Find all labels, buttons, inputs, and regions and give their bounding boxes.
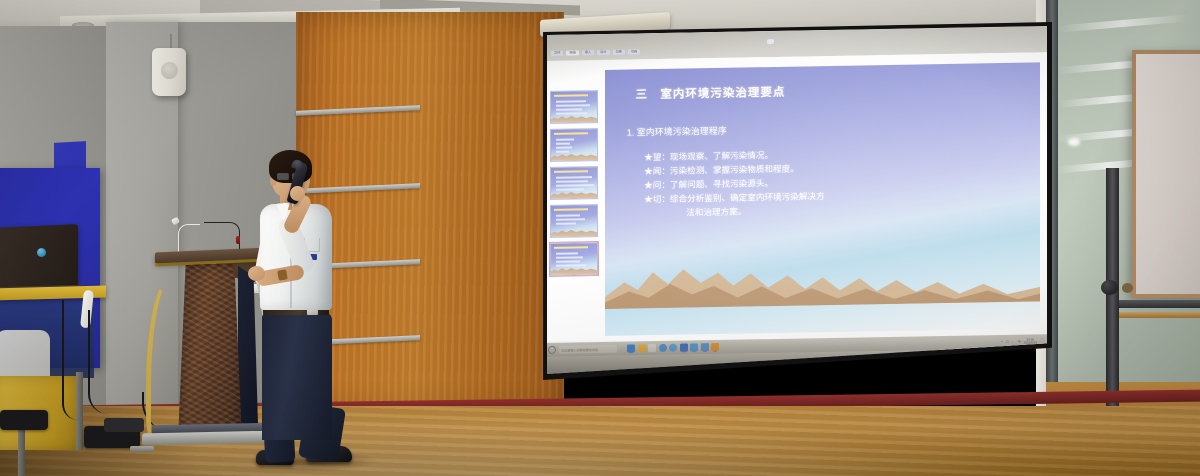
thumbnail-text-line [556, 138, 574, 140]
file-explorer-icon[interactable] [638, 344, 646, 352]
slide-thumbnail[interactable] [550, 166, 598, 200]
projected-desktop: 文件 开始 插入 设计 切换 动画 [545, 26, 1047, 357]
ime-icon[interactable]: 中 [1018, 340, 1021, 344]
thumbnail-title-bar [554, 132, 588, 135]
gooseneck-mic-arm-dark [204, 222, 240, 250]
current-slide[interactable]: 三 室内环境污染治理要点 1. 室内环境污染治理程序 ★望：现场观察、了解污染情… [605, 62, 1040, 336]
ribbon-tab-file[interactable]: 文件 [551, 51, 563, 56]
thumbnail-title-bar [554, 208, 588, 211]
window-control-group[interactable] [767, 39, 774, 44]
whiteboard-adjust-knob[interactable] [1101, 280, 1118, 295]
microphone-indicator-light [236, 236, 240, 244]
lecture-hall-scene: 文件 开始 插入 设计 切换 动画 [0, 0, 1200, 476]
mail-icon[interactable] [659, 344, 667, 352]
slide-thumbnail[interactable] [550, 90, 598, 124]
laptop-lid[interactable] [0, 224, 78, 292]
thumbnail-text-line [556, 176, 592, 178]
glass-light-spot [1068, 138, 1080, 146]
slide-title: 三 室内环境污染治理要点 [635, 84, 785, 103]
thumbnail-mountain-graphic [551, 227, 597, 237]
thumbnail-text-line [556, 180, 588, 182]
cable [88, 310, 108, 414]
laptop-brand-logo-icon [37, 248, 46, 257]
whiteboard-pen-tray [1118, 312, 1200, 318]
thumbnail-text-line [556, 256, 583, 258]
store-icon[interactable] [648, 344, 656, 352]
wall-speaker [152, 48, 186, 96]
wps-icon[interactable] [701, 343, 709, 351]
thumbnail-text-line [556, 143, 570, 145]
chevron-up-icon[interactable]: ^ [1002, 340, 1003, 344]
thumbnail-text-line [556, 252, 578, 254]
ribbon-tab-design[interactable]: 设计 [597, 50, 609, 55]
whiteboard-frame-knob[interactable] [1122, 283, 1133, 293]
powerpoint-icon[interactable] [711, 343, 719, 351]
metal-clamp [130, 446, 154, 452]
projector-screen[interactable]: 文件 开始 插入 设计 切换 动画 [545, 26, 1047, 374]
cable [62, 300, 78, 420]
clock-date: 2019/6/19 [1024, 340, 1037, 344]
taskbar-clock[interactable]: 10:56 2019/6/19 [1024, 338, 1037, 345]
thumbnail-mountain-graphic [551, 113, 597, 123]
thumbnail-text-line [556, 108, 582, 110]
thumbnail-text-line [556, 214, 580, 216]
excel-icon[interactable] [690, 343, 698, 351]
start-button-icon[interactable] [548, 346, 556, 354]
ribbon-tab-insert[interactable]: 插入 [582, 50, 594, 55]
speaker-cone-icon [161, 62, 178, 79]
presenter-wristwatch [277, 269, 288, 280]
slide-bullet-list: ★望：现场观察、了解污染情况。 ★闻：污染检测、掌握污染物质和程度。 ★问：了解… [644, 145, 1027, 221]
thumbnail-mountain-graphic [551, 151, 597, 161]
thumbnail-title-bar [554, 170, 588, 173]
gooseneck-mic-arm [178, 224, 200, 254]
ribbon-tab-animations[interactable]: 动画 [628, 49, 640, 54]
thumbnail-text-line [556, 222, 576, 224]
edge-icon[interactable] [627, 344, 635, 352]
chrome-icon[interactable] [669, 344, 677, 352]
thumbnail-text-line [556, 104, 590, 106]
av-equipment-bag [0, 410, 48, 430]
thumbnail-text-line [556, 112, 587, 114]
presenter-hand-left [248, 266, 265, 281]
thumbnail-text-line [556, 260, 580, 262]
volume-icon[interactable]: ♩ [1012, 340, 1015, 344]
thumbnail-text-line [556, 218, 585, 220]
seated-operator-torso [0, 330, 50, 376]
slide-thumbnail-pane[interactable] [550, 90, 598, 276]
thumbnail-title-bar [554, 246, 588, 249]
whiteboard-crossbar [1112, 300, 1200, 308]
table-leg [18, 430, 25, 476]
network-icon[interactable]: ☐ [1006, 340, 1009, 344]
thumbnail-text-line [556, 184, 594, 186]
av-equipment-box [104, 418, 144, 432]
word-icon[interactable] [680, 344, 688, 352]
thumbnail-text-line [556, 188, 584, 190]
taskbar-search-box[interactable]: 在这里输入你要搜索的内容 [559, 345, 617, 354]
presenter [250, 150, 360, 470]
glasses-lens-left [277, 173, 289, 180]
lectern-panel-texture [178, 264, 242, 440]
thumbnail-mountain-graphic [551, 189, 597, 199]
slide-thumbnail-selected[interactable] [550, 242, 598, 276]
presenter-hand-right [290, 186, 305, 201]
thumbnail-text-line [556, 151, 569, 153]
whiteboard[interactable] [1132, 50, 1200, 298]
slide-thumbnail[interactable] [550, 128, 598, 162]
ribbon-tab-transitions[interactable]: 切换 [613, 50, 625, 55]
slide-subtitle: 1. 室内环境污染治理程序 [627, 124, 727, 139]
slide-editing-area[interactable]: 三 室内环境污染治理要点 1. 室内环境污染治理程序 ★望：现场观察、了解污染情… [605, 62, 1040, 336]
taskbar-pinned-apps[interactable] [627, 343, 719, 353]
slide-thumbnail[interactable] [550, 204, 598, 238]
thumbnail-text-line [556, 147, 572, 149]
lectern-front-panel [178, 264, 242, 440]
ribbon-tab-home[interactable]: 开始 [566, 50, 578, 55]
thumbnail-title-bar [554, 94, 588, 97]
mountain-range-graphic [605, 249, 1040, 310]
thumbnail-text-line [556, 100, 586, 102]
thumbnail-mountain-graphic [551, 265, 597, 275]
powerpoint-workspace: 三 室内环境污染治理要点 1. 室内环境污染治理程序 ★望：现场观察、了解污染情… [545, 52, 1047, 343]
thumbnail-text-line [556, 264, 586, 266]
presenter-trousers [262, 312, 332, 440]
